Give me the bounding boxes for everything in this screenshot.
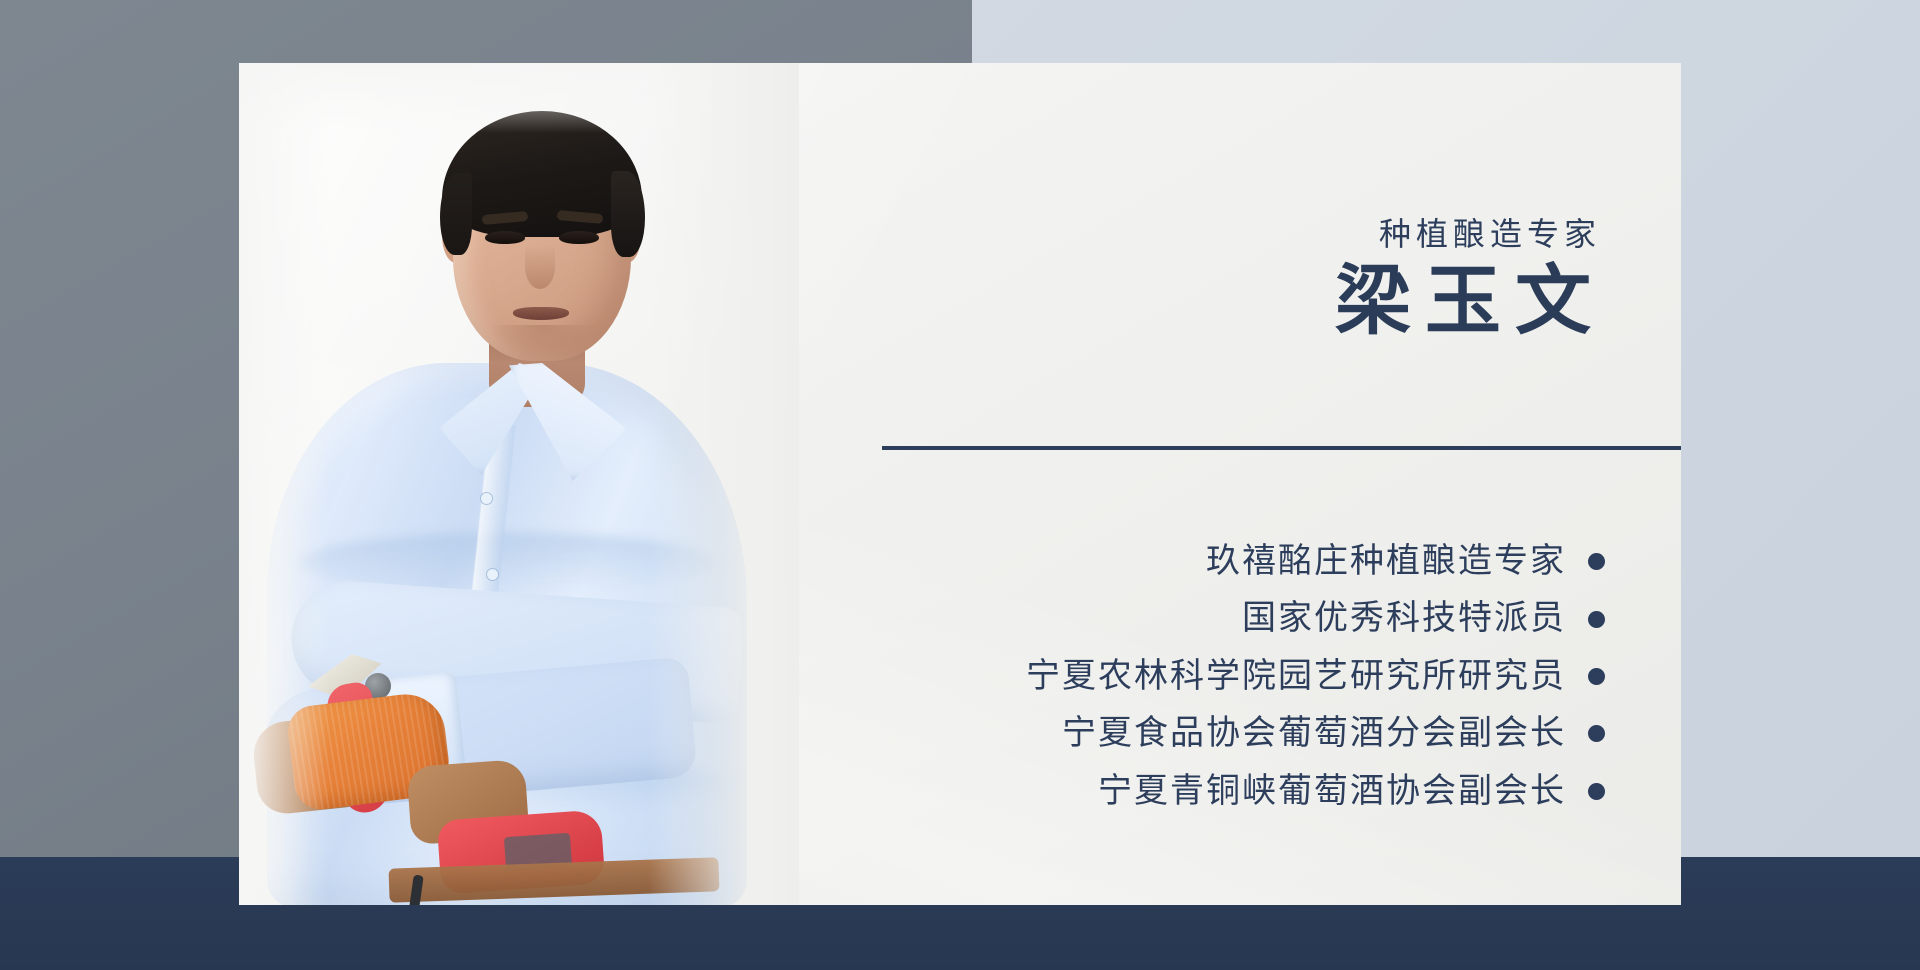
bullet-dot-icon <box>1588 783 1605 800</box>
credential-text: 宁夏青铜峡葡萄酒协会副会长 <box>1098 773 1566 810</box>
role-eyebrow: 种植酿造专家 <box>1379 218 1601 250</box>
poster-canvas: 种植酿造专家 梁玉文 玖禧酩庄种植酿造专家 国家优秀科技特派员 宁夏农林科学院园… <box>0 0 1920 970</box>
eye-left <box>485 231 525 244</box>
list-item: 宁夏农林科学院园艺研究所研究员 <box>825 658 1605 695</box>
bullet-dot-icon <box>1588 725 1605 742</box>
chin-shadow <box>489 325 595 355</box>
list-item: 宁夏食品协会葡萄酒分会副会长 <box>825 715 1605 752</box>
photo-fade-left <box>239 63 329 905</box>
list-item: 宁夏青铜峡葡萄酒协会副会长 <box>825 773 1605 810</box>
credential-text: 国家优秀科技特派员 <box>1242 600 1566 637</box>
eye-right <box>559 231 599 244</box>
profile-card: 种植酿造专家 梁玉文 玖禧酩庄种植酿造专家 国家优秀科技特派员 宁夏农林科学院园… <box>239 63 1681 905</box>
credential-text: 玖禧酩庄种植酿造专家 <box>1206 543 1566 580</box>
photo-fade-right <box>649 63 799 905</box>
bullet-dot-icon <box>1588 668 1605 685</box>
shirt-button <box>481 493 492 504</box>
hair-side-left <box>440 173 472 255</box>
nose <box>525 245 555 289</box>
shirt-button <box>487 569 498 580</box>
header-divider-line <box>882 446 1681 450</box>
person-name: 梁玉文 <box>1335 261 1605 343</box>
credential-text: 宁夏食品协会葡萄酒分会副会长 <box>1062 715 1566 752</box>
credentials-list: 玖禧酩庄种植酿造专家 国家优秀科技特派员 宁夏农林科学院园艺研究所研究员 宁夏食… <box>825 543 1605 810</box>
credential-text: 宁夏农林科学院园艺研究所研究员 <box>1026 658 1566 695</box>
list-item: 玖禧酩庄种植酿造专家 <box>825 543 1605 580</box>
bullet-dot-icon <box>1588 611 1605 628</box>
bullet-dot-icon <box>1588 553 1605 570</box>
portrait-photo <box>239 63 799 905</box>
mouth <box>513 307 569 320</box>
list-item: 国家优秀科技特派员 <box>825 600 1605 637</box>
